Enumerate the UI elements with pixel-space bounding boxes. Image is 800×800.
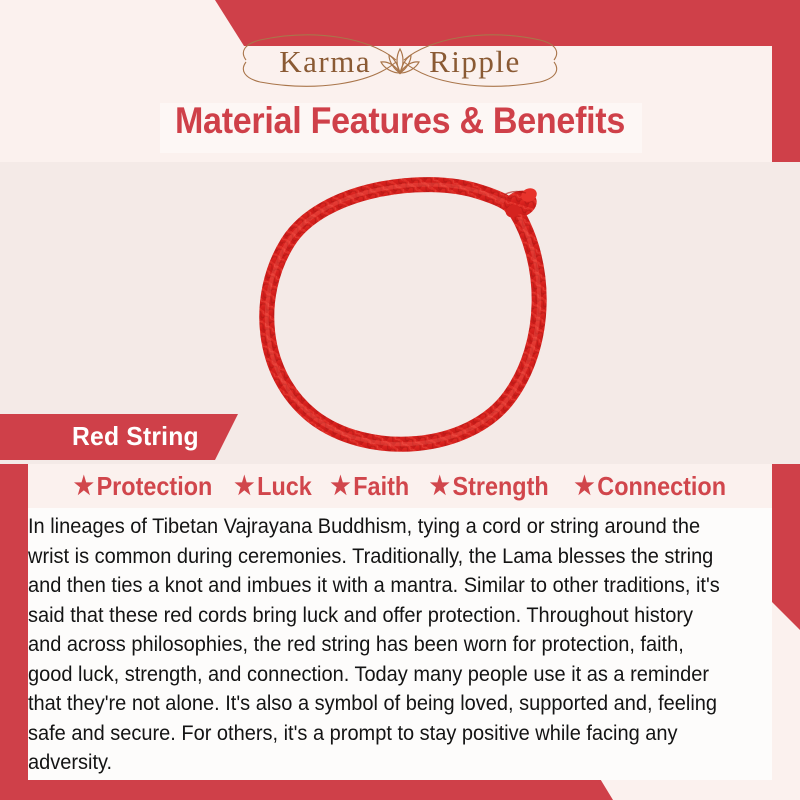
benefit-label: Luck	[257, 473, 312, 499]
benefit-item-luck: ★ Luck	[234, 473, 311, 499]
benefit-item-connection: ★ Connection	[574, 473, 726, 499]
brand-name-right: Ripple	[429, 46, 521, 77]
material-name: Red String	[72, 421, 199, 452]
benefit-label: Faith	[353, 473, 409, 499]
bracelet-knot	[500, 186, 540, 222]
benefit-label: Strength	[453, 473, 549, 499]
benefit-item-faith: ★ Faith	[330, 473, 409, 499]
benefits-list: ★ Protection ★ Luck ★ Faith ★ Strength ★…	[28, 466, 772, 506]
description-paragraph: In lineages of Tibetan Vajrayana Buddhis…	[28, 512, 724, 778]
star-icon: ★	[430, 474, 450, 499]
brand-logo: Karma Ripple	[0, 26, 800, 96]
benefit-item-strength: ★ Strength	[430, 473, 549, 499]
page-title: Material Features & Benefits	[32, 100, 768, 142]
star-icon: ★	[574, 474, 594, 499]
benefit-label: Protection	[96, 473, 212, 499]
benefit-item-protection: ★ Protection	[74, 473, 213, 499]
product-image-red-string-bracelet	[248, 168, 578, 464]
star-icon: ★	[234, 474, 254, 499]
brand-name-left: Karma	[279, 46, 371, 77]
star-icon: ★	[74, 474, 94, 499]
star-icon: ★	[330, 474, 350, 499]
lotus-icon	[377, 45, 423, 77]
infographic-page: Karma Ripple Material Features & Benefit…	[0, 0, 800, 800]
benefit-label: Connection	[597, 473, 726, 499]
